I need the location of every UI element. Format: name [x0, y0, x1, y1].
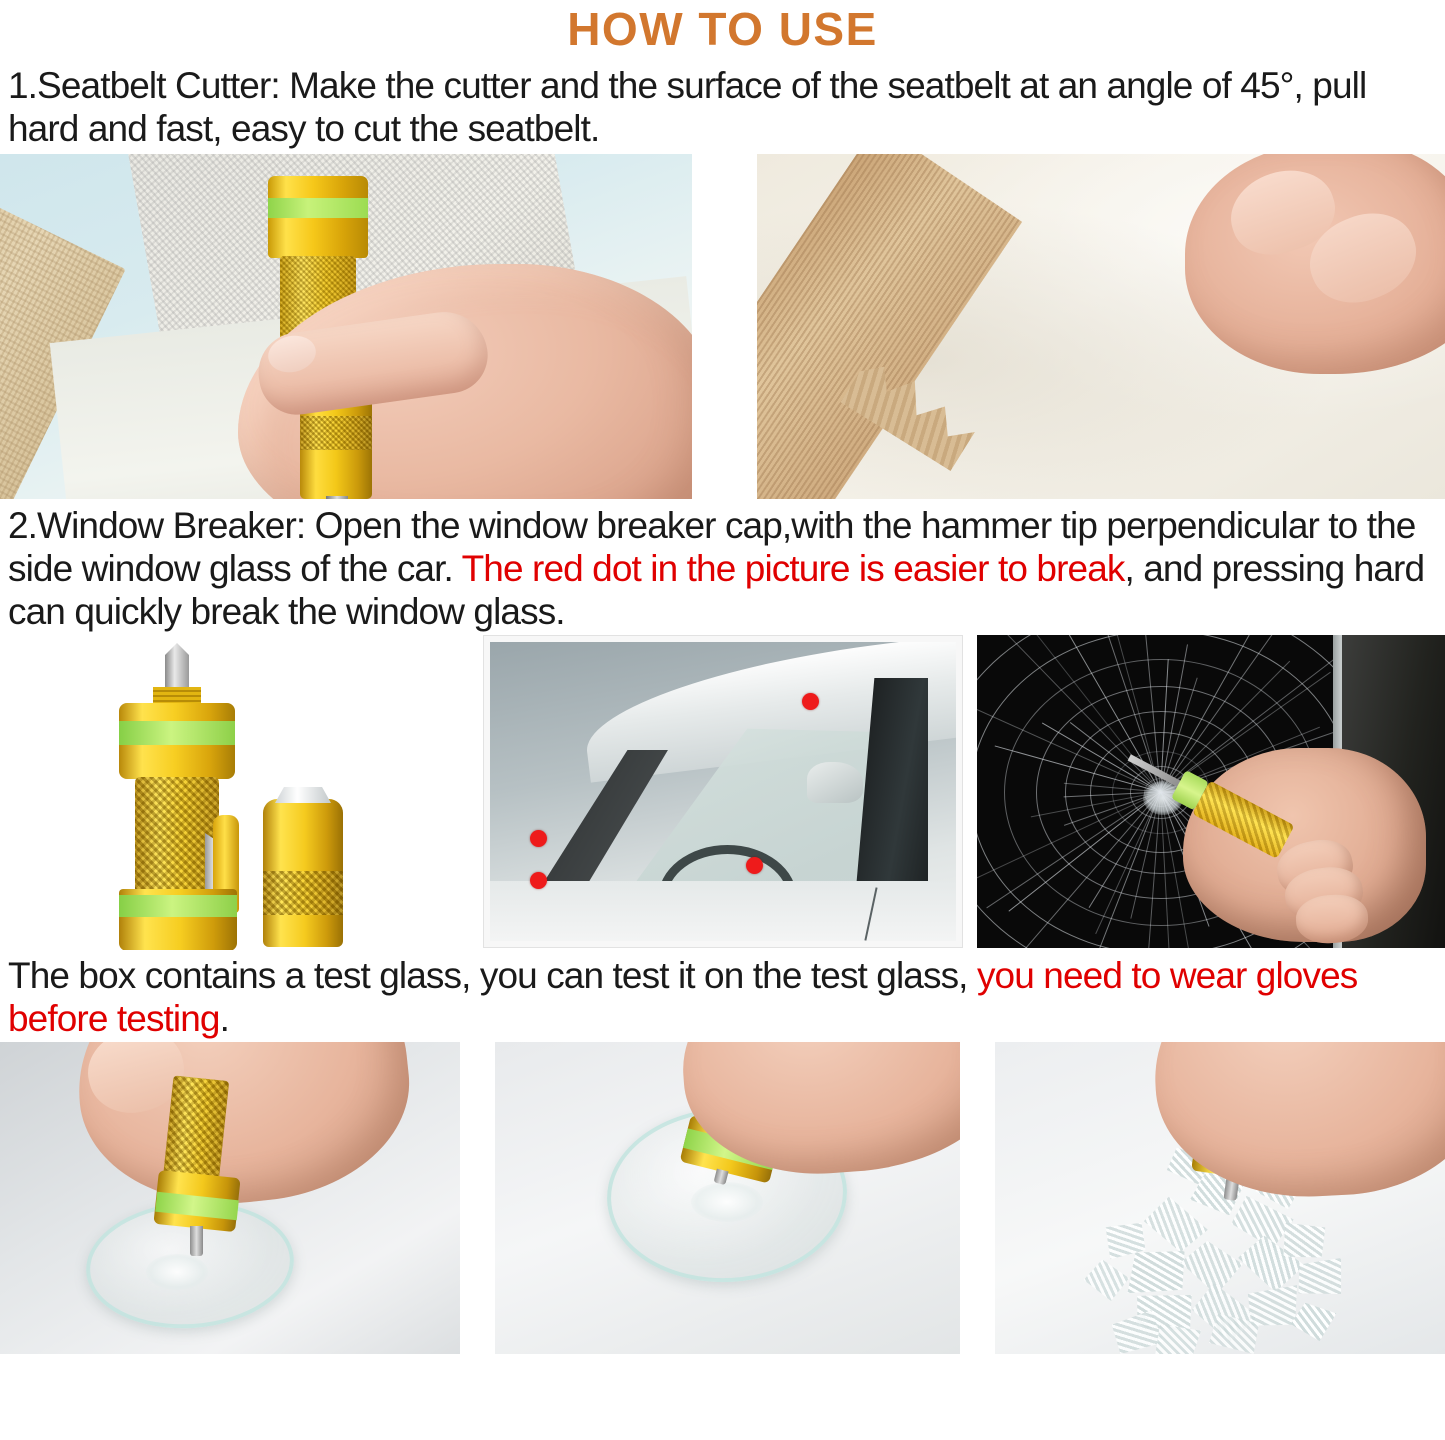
- tool-knurl-lower: [300, 416, 372, 450]
- photo-row-test-glass: [0, 1042, 1445, 1354]
- photo-row-seatbelt: [0, 154, 1445, 499]
- red-dot-marker: [530, 872, 547, 889]
- cut-seatbelt-photo: [757, 154, 1445, 499]
- instruction-seatbelt-cutter: 1.Seatbelt Cutter: Make the cutter and t…: [0, 64, 1445, 150]
- tool-green-band-top: [119, 721, 235, 745]
- tool-tip: [326, 496, 348, 499]
- test-glass-press-photo: [0, 1042, 460, 1354]
- cap-knurl: [263, 871, 343, 915]
- instruction-3-text-b: .: [220, 998, 229, 1039]
- tool-tip: [190, 1226, 203, 1256]
- tool-tip: [714, 1169, 729, 1185]
- instruction-window-breaker: 2.Window Breaker: Open the window breake…: [0, 504, 1445, 633]
- red-dot-marker: [802, 693, 819, 710]
- photo-row-window-breaker: [0, 635, 1445, 950]
- rearview-mirror: [807, 762, 863, 804]
- glass-shard: [1289, 1250, 1352, 1307]
- red-dot-marker: [530, 830, 547, 847]
- instruction-3-text-a: The box contains a test glass, you can t…: [8, 955, 977, 996]
- car-window-red-dots-photo: [483, 635, 963, 948]
- test-glass-angle-photo: [495, 1042, 960, 1354]
- seatbelt-cutting-photo: [0, 154, 692, 499]
- instruction-1-text: 1.Seatbelt Cutter: Make the cutter and t…: [8, 65, 1366, 149]
- tool-knurled-grip: [163, 1075, 230, 1184]
- instruction-2-text-red: The red dot in the picture is easier to …: [462, 548, 1125, 589]
- how-to-use-page: HOW TO USE 1.Seatbelt Cutter: Make the c…: [0, 0, 1445, 1440]
- broken-window-photo: [977, 635, 1445, 948]
- glass-shard: [1080, 1256, 1132, 1304]
- instruction-test-glass: The box contains a test glass, you can t…: [0, 954, 1445, 1040]
- breaker-cap: [263, 787, 343, 947]
- glass-shard: [1155, 1324, 1201, 1354]
- car-door-body: [490, 881, 956, 941]
- window-breaker-tool: [113, 643, 245, 943]
- tool-green-band-bottom: [119, 895, 237, 917]
- breaker-tool-photo: [95, 635, 385, 950]
- hand: [1183, 748, 1426, 942]
- breaker-tool: [150, 1078, 236, 1268]
- page-title: HOW TO USE: [0, 0, 1445, 56]
- cap-crystal-top: [275, 787, 331, 803]
- car-window-image: [490, 642, 956, 941]
- hammer-spike-tip: [165, 643, 189, 689]
- shattered-test-glass-photo: [995, 1042, 1445, 1354]
- glass-shard: [1289, 1301, 1338, 1343]
